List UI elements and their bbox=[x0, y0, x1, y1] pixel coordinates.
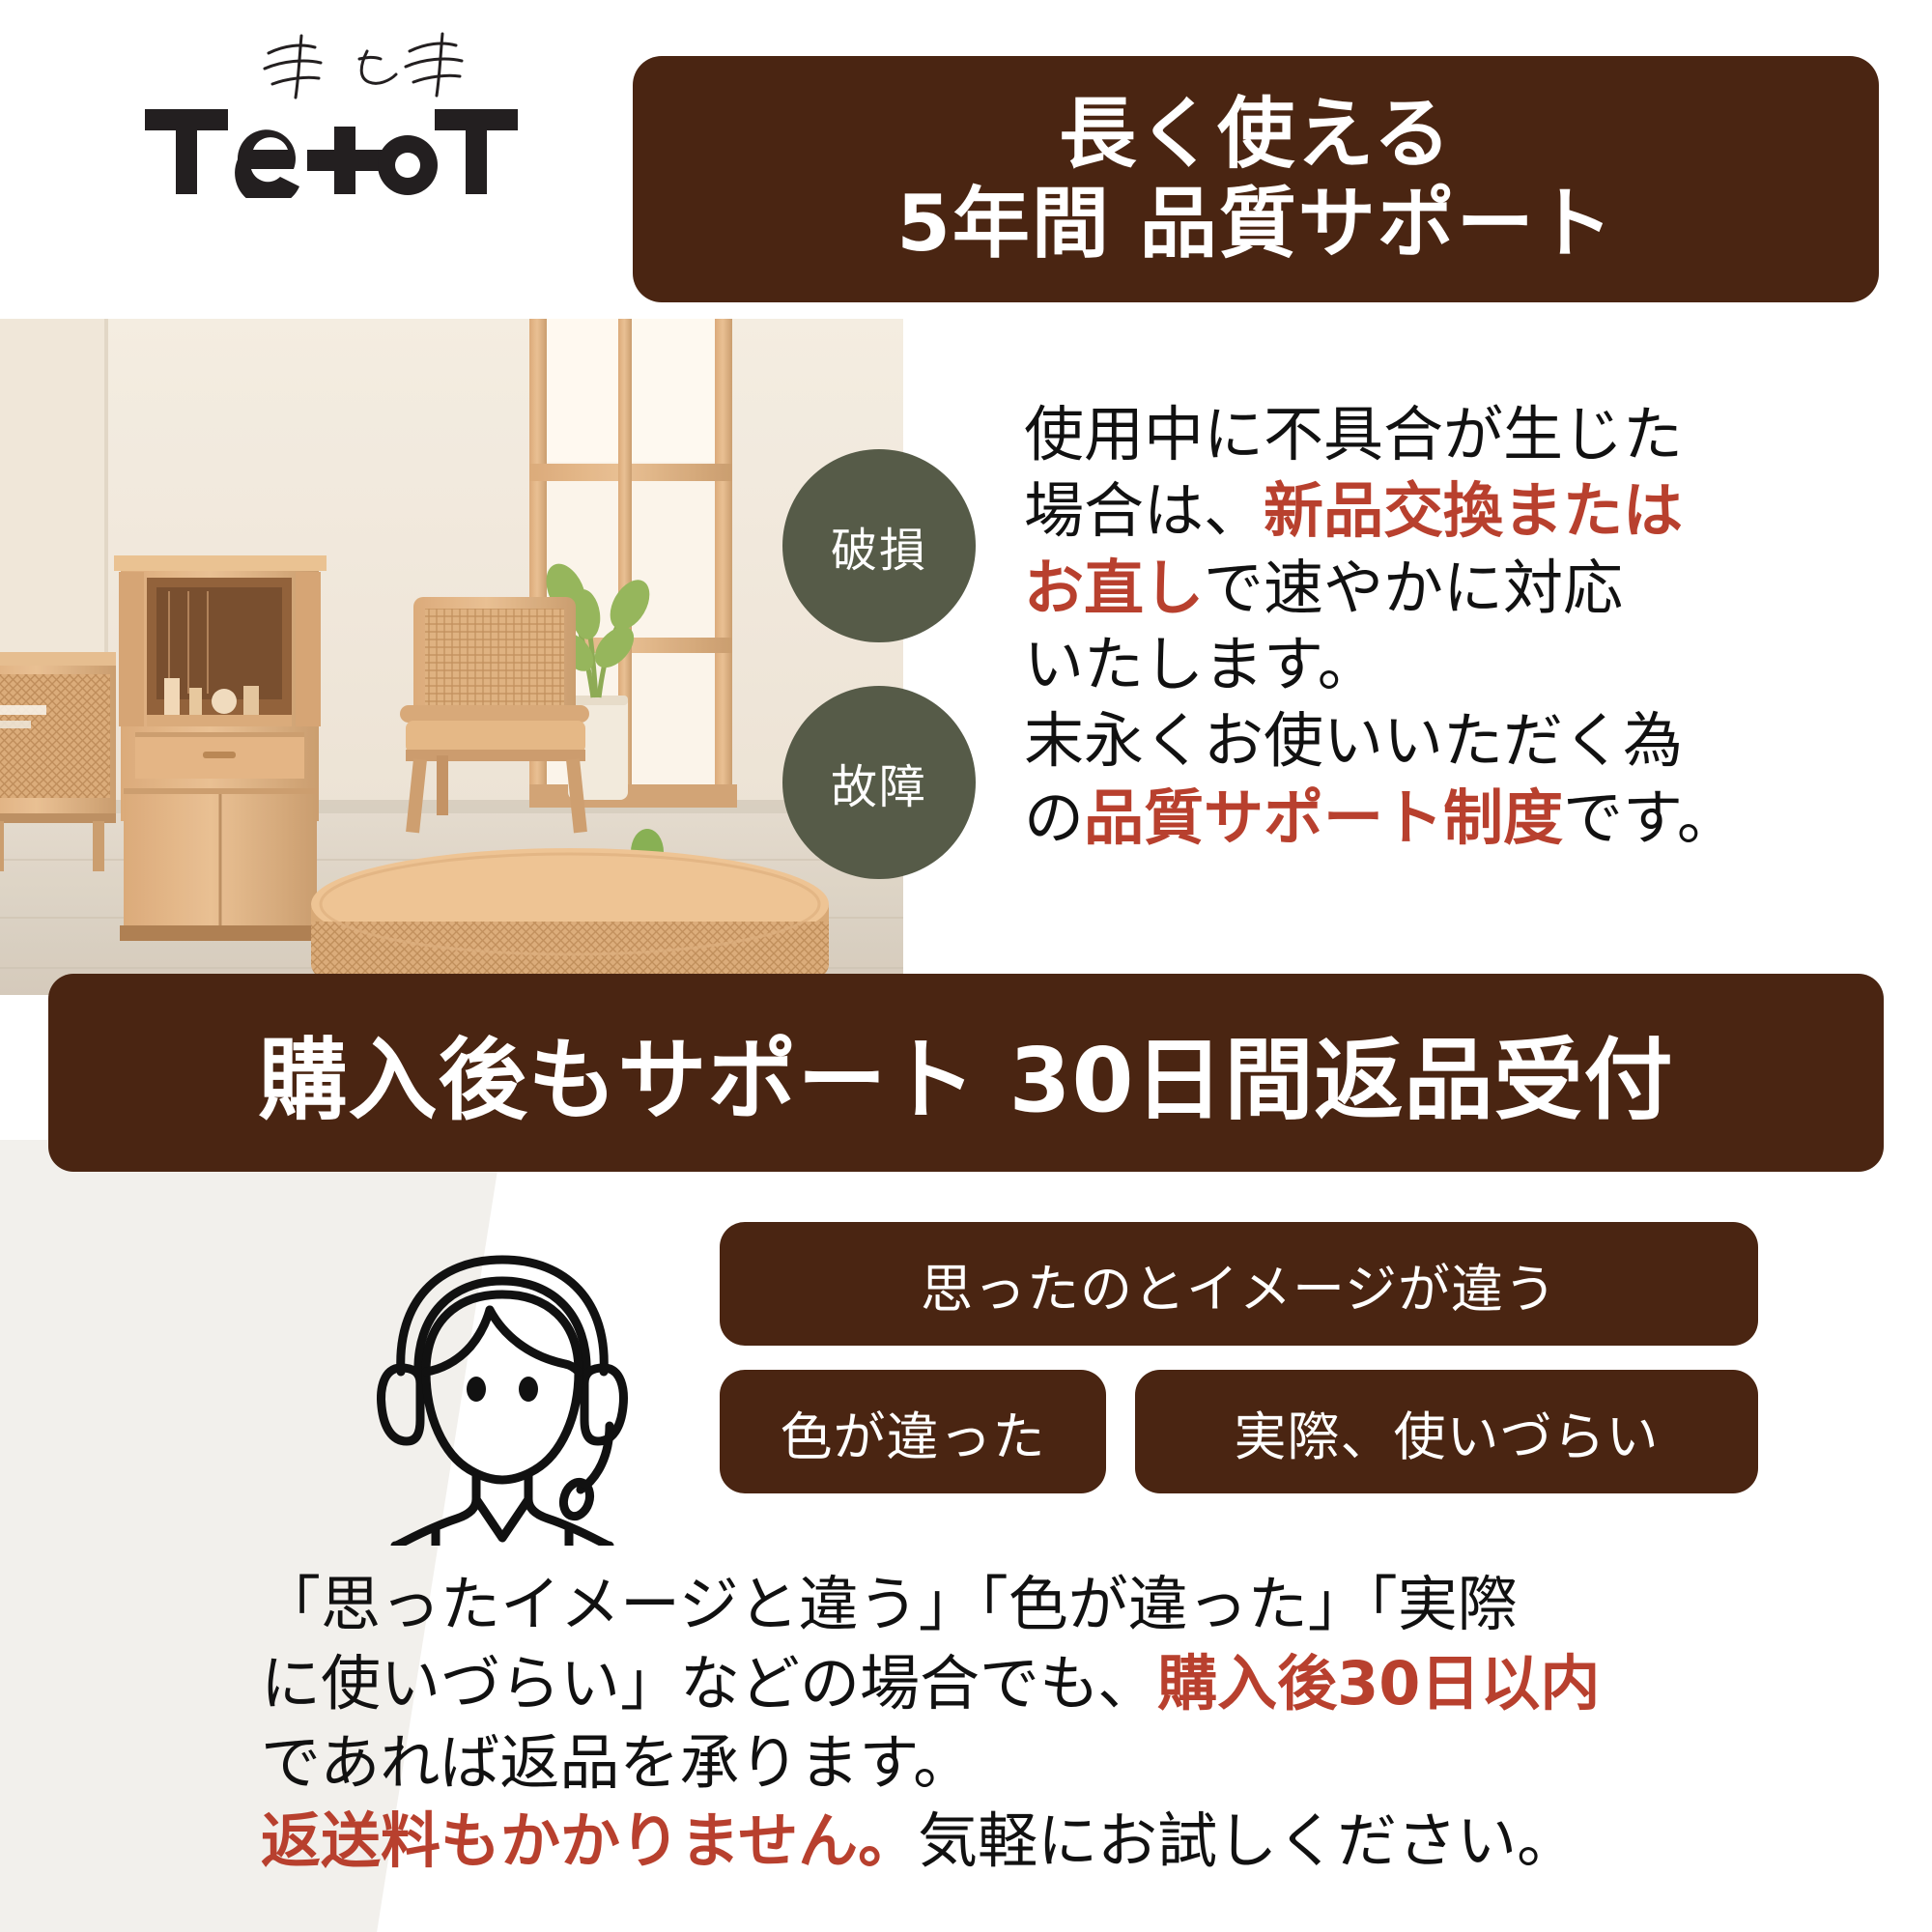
return-policy-banner-text: 購入後もサポート 30日間返品受付 bbox=[258, 1009, 1673, 1137]
return-paragraph-line: 「思ったイメージと違う」「色が違った」「実際 bbox=[261, 1565, 1922, 1644]
reason-pill-0-label: 思ったのとイメージが違う bbox=[921, 1246, 1557, 1322]
return-paragraph-line: 返送料もかかりません。気軽にお試しください。 bbox=[261, 1802, 1922, 1881]
quality-paragraph-emphasis: お直し bbox=[1024, 553, 1204, 623]
header-banner-line2: 5年間 品質サポート bbox=[896, 184, 1615, 266]
return-paragraph-text: に使いづらい」などの場合でも、 bbox=[261, 1648, 1157, 1719]
return-paragraph-emphasis: 購入後30日以内 bbox=[1157, 1648, 1600, 1719]
quality-paragraph-text: 使用中に不具合が生じた bbox=[1024, 399, 1683, 469]
return-paragraph-text: 「思ったイメージと違う」「色が違った」「実際 bbox=[261, 1569, 1518, 1639]
headset-operator-icon bbox=[362, 1227, 642, 1546]
logo-kanji-handwriting bbox=[259, 32, 481, 101]
header-banner: 長く使える 5年間 品質サポート bbox=[633, 56, 1879, 302]
logo-wordmark bbox=[145, 92, 522, 213]
quality-paragraph-text: で速やかに対応 bbox=[1204, 553, 1623, 623]
reason-pill-2-label: 実際、使いづらい bbox=[1235, 1394, 1660, 1470]
header-banner-line1: 長く使える bbox=[1059, 94, 1453, 176]
quality-paragraph-text: の bbox=[1024, 782, 1084, 853]
quality-paragraph-line: いたします。 bbox=[1024, 626, 1879, 702]
quality-paragraph-text: です。 bbox=[1563, 782, 1737, 853]
badge-damage-label: 破損 bbox=[831, 512, 927, 580]
badge-malfunction-label: 故障 bbox=[831, 749, 927, 816]
return-policy-banner: 購入後もサポート 30日間返品受付 bbox=[48, 974, 1884, 1172]
reason-pill-color-mismatch: 色が違った bbox=[720, 1370, 1106, 1493]
return-paragraph-text: であれば返品を承ります。 bbox=[261, 1727, 973, 1798]
return-paragraph-line: に使いづらい」などの場合でも、購入後30日以内 bbox=[261, 1644, 1922, 1723]
reason-pill-image-mismatch: 思ったのとイメージが違う bbox=[720, 1222, 1758, 1346]
quality-paragraph-text: 末永くお使いいただく為 bbox=[1024, 705, 1683, 776]
quality-paragraph-emphasis: 新品交換または bbox=[1264, 475, 1683, 546]
room-photo bbox=[0, 319, 903, 995]
quality-paragraph-text: いたします。 bbox=[1024, 629, 1378, 699]
return-paragraph-text: 気軽にお試しください。 bbox=[918, 1805, 1577, 1876]
badge-damage: 破損 bbox=[782, 449, 976, 642]
badge-malfunction: 故障 bbox=[782, 686, 976, 879]
quality-paragraph-emphasis: 品質サポート制度 bbox=[1084, 782, 1563, 853]
reason-pill-1-label: 色が違った bbox=[781, 1394, 1046, 1470]
return-paragraph-line: であれば返品を承ります。 bbox=[261, 1723, 1922, 1803]
quality-paragraph-text: 場合は、 bbox=[1024, 475, 1264, 546]
quality-paragraph-line: の品質サポート制度です。 bbox=[1024, 780, 1879, 856]
quality-paragraph-line: お直しで速やかに対応 bbox=[1024, 550, 1879, 626]
promo-banner-root: 長く使える 5年間 品質サポート 破損 故障 使用中に不具合が生じた場合は、新品… bbox=[0, 0, 1932, 1932]
quality-paragraph-line: 使用中に不具合が生じた bbox=[1024, 396, 1879, 472]
quality-paragraph-line: 末永くお使いいただく為 bbox=[1024, 702, 1879, 779]
quality-support-paragraph: 使用中に不具合が生じた場合は、新品交換またはお直しで速やかに対応いたします。末永… bbox=[1024, 396, 1879, 856]
quality-paragraph-line: 場合は、新品交換または bbox=[1024, 472, 1879, 549]
return-policy-paragraph: 「思ったイメージと違う」「色が違った」「実際に使いづらい」などの場合でも、購入後… bbox=[261, 1565, 1922, 1881]
return-paragraph-emphasis: 返送料もかかりません。 bbox=[261, 1805, 918, 1876]
brand-logo bbox=[145, 92, 522, 213]
reason-pill-hard-to-use: 実際、使いづらい bbox=[1135, 1370, 1758, 1493]
